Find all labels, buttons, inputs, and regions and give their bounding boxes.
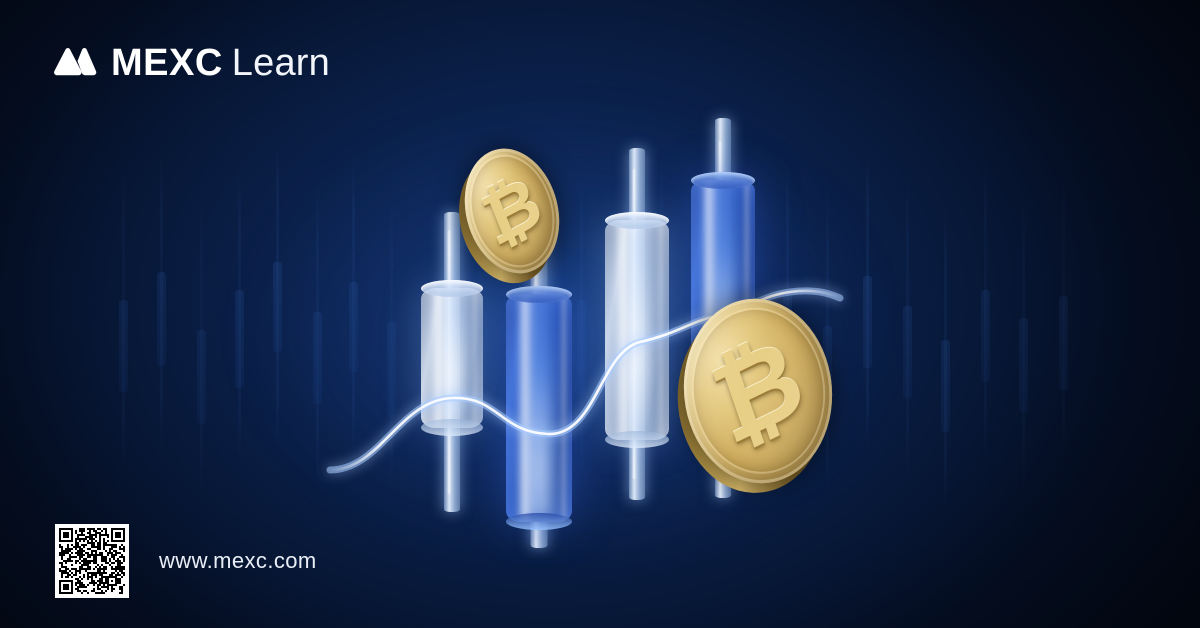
candle-3-cap-bottom bbox=[605, 431, 669, 448]
footer: www.mexc.com bbox=[55, 524, 317, 598]
brand-lockup: MEXC Learn bbox=[52, 44, 330, 82]
candle-3-body bbox=[605, 220, 669, 440]
candle-2 bbox=[506, 0, 572, 628]
candle-1-cap-top bbox=[421, 280, 483, 297]
qr-code-icon[interactable] bbox=[55, 524, 129, 598]
candle-3 bbox=[605, 0, 669, 628]
website-url[interactable]: www.mexc.com bbox=[159, 548, 317, 574]
brand-name: MEXC bbox=[111, 44, 223, 82]
candle-2-cap-bottom bbox=[506, 513, 572, 530]
candle-1 bbox=[421, 0, 483, 628]
brand-product: Learn bbox=[232, 44, 330, 82]
promo-banner: ₿₿ MEXC Learn www.mexc.com bbox=[0, 0, 1200, 628]
candle-2-cap-top bbox=[506, 286, 572, 303]
candle-1-cap-bottom bbox=[421, 419, 483, 436]
mexc-triangle-logo-icon bbox=[52, 46, 98, 80]
candle-3-cap-top bbox=[605, 212, 669, 229]
candle-2-body bbox=[506, 294, 572, 522]
candle-1-body bbox=[421, 288, 483, 428]
candle-4-cap-top bbox=[691, 172, 755, 189]
